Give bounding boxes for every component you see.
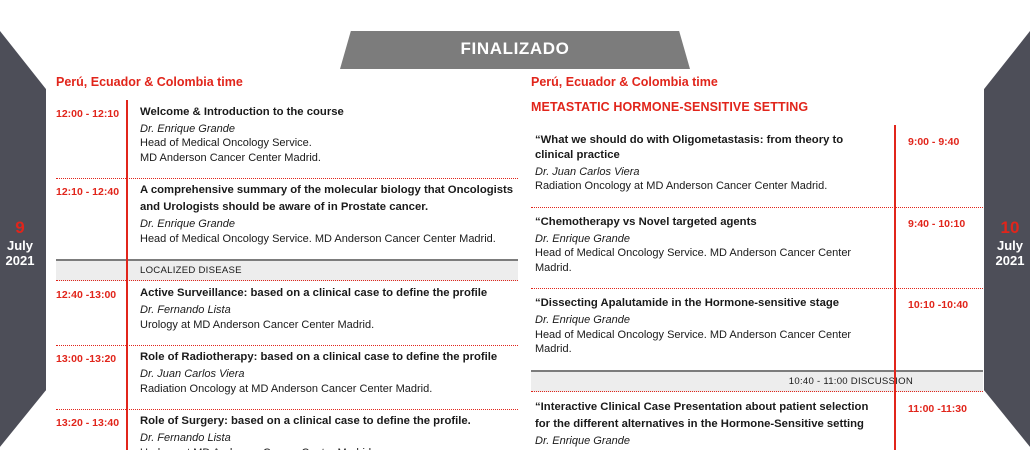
session-row[interactable]: “Interactive Clinical Case Presentation … xyxy=(531,392,983,450)
discussion-band-label: 10:40 - 11:00 DISCUSSION xyxy=(531,376,983,387)
timezone-header-left: Perú, Ecuador & Colombia time xyxy=(56,75,518,89)
session-speaker: Dr. Enrique Grande xyxy=(535,434,884,449)
day-tab-left-number: 9 xyxy=(0,218,40,238)
day-tab-right-year: 2021 xyxy=(990,253,1030,268)
session-affiliation: Head of Medical Oncology Service. xyxy=(140,136,518,151)
session-affiliation: MD Anderson Cancer Center Madrid. xyxy=(140,151,518,166)
session-affiliation: Urology at MD Anderson Cancer Center Mad… xyxy=(140,318,518,333)
session-accent-bar xyxy=(126,409,128,450)
session-row[interactable]: 12:10 - 12:40 A comprehensive summary of… xyxy=(56,178,518,259)
section-band-label: LOCALIZED DISEASE xyxy=(56,265,242,276)
session-title: “Dissecting Apalutamide in the Hormone-s… xyxy=(535,296,884,311)
day-tab-right-number: 10 xyxy=(990,218,1030,238)
session-title: “Interactive Clinical Case Presentation … xyxy=(535,400,884,415)
day-tab-left[interactable]: 9 July 2021 xyxy=(0,0,46,450)
session-accent-bar xyxy=(126,178,128,259)
session-speaker: Dr. Enrique Grande xyxy=(535,232,884,247)
session-title: “What we should do with Oligometastasis:… xyxy=(535,133,884,163)
session-speaker: Dr. Juan Carlos Viera xyxy=(535,165,884,180)
timezone-header-right: Perú, Ecuador & Colombia time xyxy=(531,75,983,89)
session-body: Welcome & Introduction to the course Dr.… xyxy=(140,100,518,178)
session-speaker: Dr. Juan Carlos Viera xyxy=(140,367,518,382)
status-badge: FINALIZADO xyxy=(340,31,690,69)
session-time: 11:00 -11:30 xyxy=(896,392,983,450)
session-time: 13:00 -13:20 xyxy=(56,345,126,409)
session-time: 10:10 -10:40 xyxy=(896,288,983,369)
session-body: “Chemotherapy vs Novel targeted agents D… xyxy=(531,207,884,288)
session-title: Role of Surgery: based on a clinical cas… xyxy=(140,414,518,429)
session-title: “Chemotherapy vs Novel targeted agents xyxy=(535,215,884,230)
session-body: Role of Radiotherapy: based on a clinica… xyxy=(140,345,518,409)
session-title: for the different alternatives in the Ho… xyxy=(535,417,884,432)
session-affiliation: Radiation Oncology at MD Anderson Cancer… xyxy=(535,179,884,194)
session-time: 12:00 - 12:10 xyxy=(56,100,126,178)
session-row[interactable]: “What we should do with Oligometastasis:… xyxy=(531,125,983,207)
session-row[interactable]: 12:40 -13:00 Active Surveillance: based … xyxy=(56,281,518,345)
session-speaker: Dr. Enrique Grande xyxy=(140,217,518,232)
session-body: Role of Surgery: based on a clinical cas… xyxy=(140,409,518,450)
session-row[interactable]: 13:00 -13:20 Role of Radiotherapy: based… xyxy=(56,345,518,409)
session-title: Active Surveillance: based on a clinical… xyxy=(140,286,518,301)
day-tab-left-text: 9 July 2021 xyxy=(0,218,46,269)
agenda-column-day1: Perú, Ecuador & Colombia time 12:00 - 12… xyxy=(56,75,518,450)
day-tab-right-text: 10 July 2021 xyxy=(984,218,1030,269)
session-time: 12:10 - 12:40 xyxy=(56,178,126,259)
session-title: Welcome & Introduction to the course xyxy=(140,105,518,120)
session-affiliation: Head of Medical Oncology Service. MD And… xyxy=(535,246,884,275)
session-row[interactable]: “Chemotherapy vs Novel targeted agents D… xyxy=(531,207,983,288)
session-time: 9:40 - 10:10 xyxy=(896,207,983,288)
day-tab-left-year: 2021 xyxy=(0,253,40,268)
agenda-page: 9 July 2021 10 July 2021 FINALIZADO Perú… xyxy=(0,0,1030,450)
session-speaker: Dr. Fernando Lista xyxy=(140,303,518,318)
session-speaker: Dr. Enrique Grande xyxy=(140,122,518,137)
session-body: “Interactive Clinical Case Presentation … xyxy=(531,392,884,450)
band-accent-bar xyxy=(894,370,896,392)
day-tab-right[interactable]: 10 July 2021 xyxy=(984,0,1030,450)
session-accent-bar xyxy=(126,100,128,178)
session-time: 12:40 -13:00 xyxy=(56,281,126,345)
session-affiliation: Head of Medical Oncology Service. MD And… xyxy=(140,232,518,247)
session-title: and Urologists should be aware of in Pro… xyxy=(140,200,518,215)
section-band-localized-disease: LOCALIZED DISEASE xyxy=(56,259,518,281)
day-tab-left-month: July xyxy=(0,238,40,253)
session-time: 9:00 - 9:40 xyxy=(896,125,983,207)
session-accent-bar xyxy=(126,345,128,409)
session-title: A comprehensive summary of the molecular… xyxy=(140,183,518,198)
session-affiliation: Urology at MD Anderson Cancer Center Mad… xyxy=(140,446,518,450)
day-tab-right-month: July xyxy=(990,238,1030,253)
session-speaker: Dr. Enrique Grande xyxy=(535,313,884,328)
session-affiliation: Radiation Oncology at MD Anderson Cancer… xyxy=(140,382,518,397)
status-banner: FINALIZADO xyxy=(340,31,690,69)
agenda-column-day2: Perú, Ecuador & Colombia time METASTATIC… xyxy=(531,75,983,450)
session-affiliation: Head of Medical Oncology Service. MD And… xyxy=(535,328,884,357)
session-body: “Dissecting Apalutamide in the Hormone-s… xyxy=(531,288,884,369)
session-speaker: Dr. Fernando Lista xyxy=(140,431,518,446)
session-body: “What we should do with Oligometastasis:… xyxy=(531,125,884,207)
discussion-band: 10:40 - 11:00 DISCUSSION xyxy=(531,370,983,392)
session-body: Active Surveillance: based on a clinical… xyxy=(140,281,518,345)
section-header-metastatic: METASTATIC HORMONE-SENSITIVE SETTING xyxy=(531,100,983,114)
session-accent-bar xyxy=(126,281,128,345)
session-row[interactable]: 13:20 - 13:40 Role of Surgery: based on … xyxy=(56,409,518,450)
session-title: Role of Radiotherapy: based on a clinica… xyxy=(140,350,518,365)
session-body: A comprehensive summary of the molecular… xyxy=(140,178,518,259)
band-accent-bar xyxy=(126,259,128,281)
session-row[interactable]: “Dissecting Apalutamide in the Hormone-s… xyxy=(531,288,983,369)
session-time: 13:20 - 13:40 xyxy=(56,409,126,450)
session-row[interactable]: 12:00 - 12:10 Welcome & Introduction to … xyxy=(56,100,518,178)
